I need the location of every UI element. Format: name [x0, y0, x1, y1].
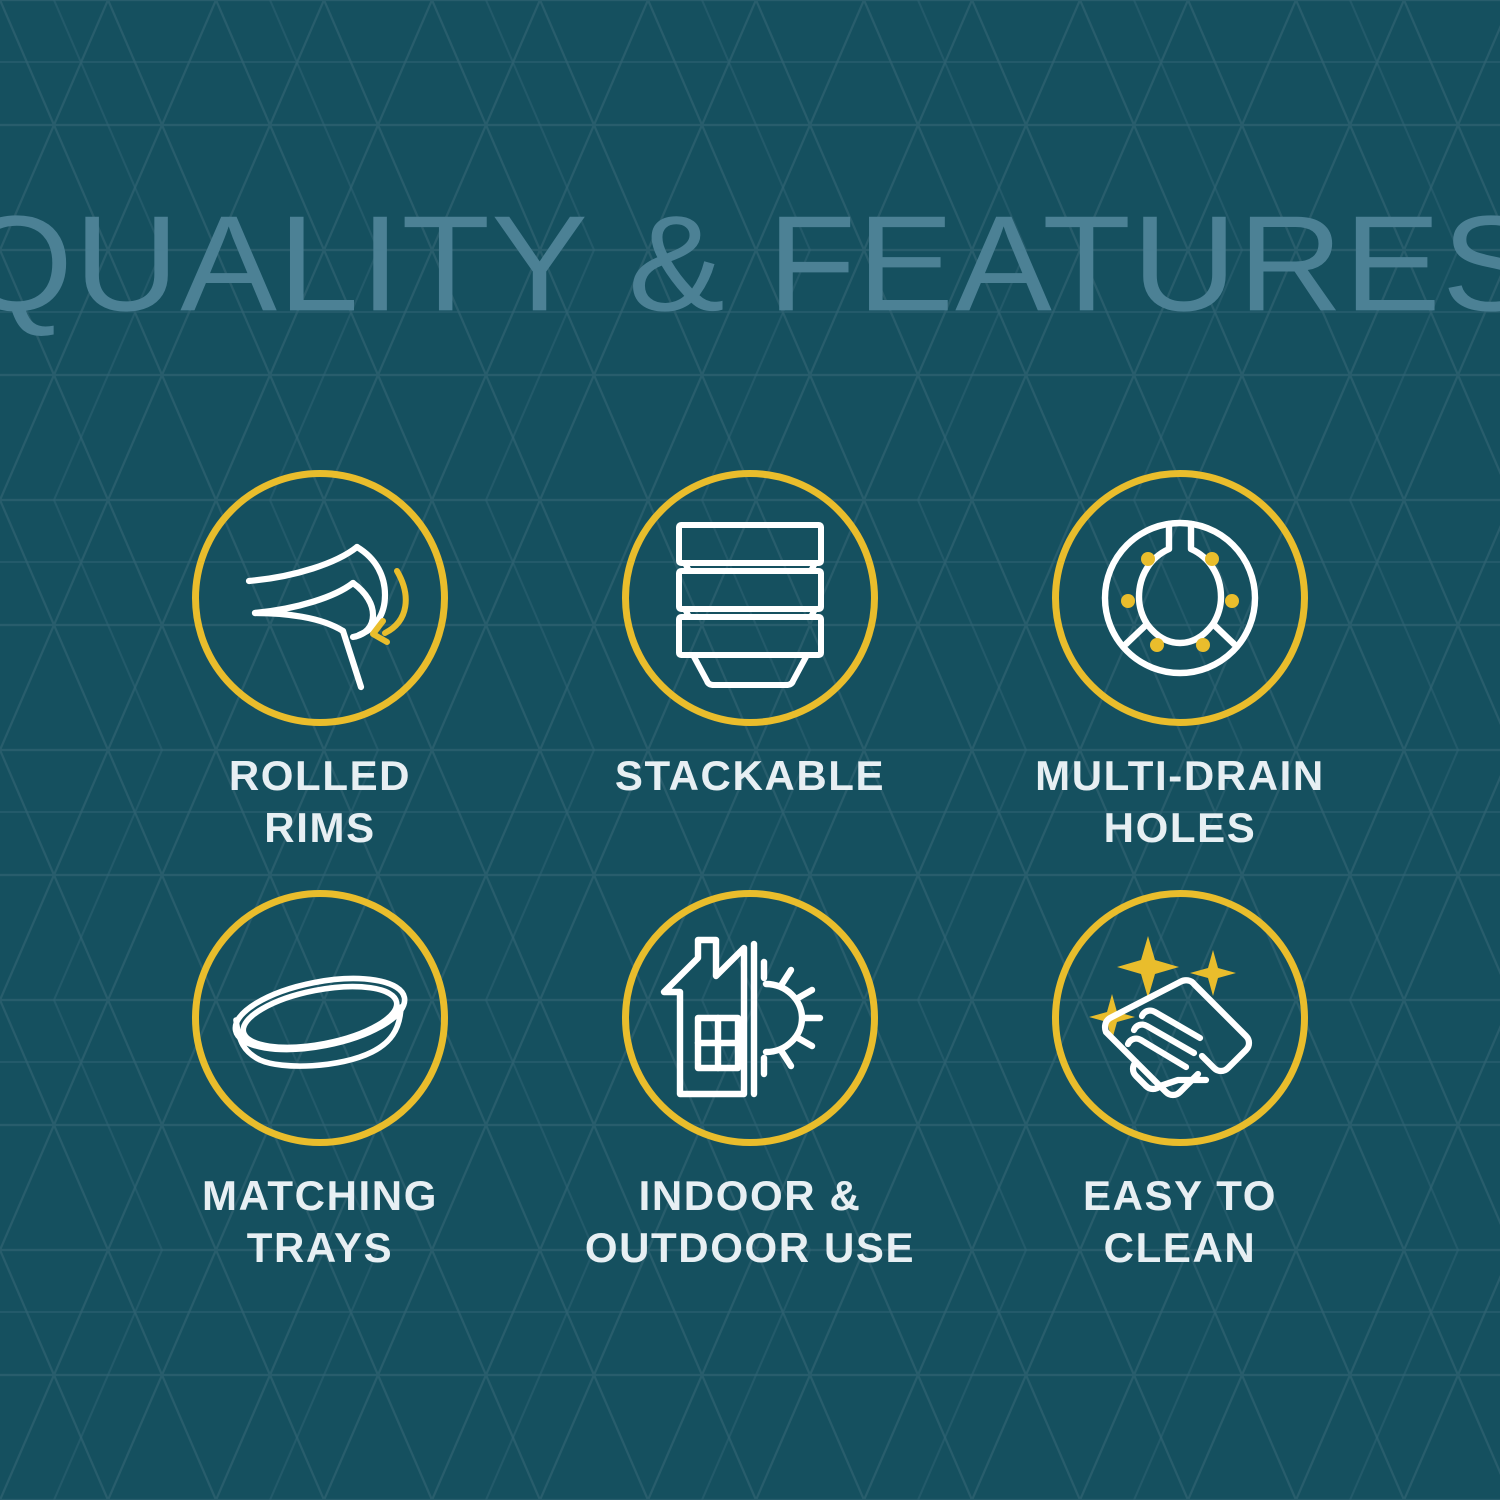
feature-badge: [1052, 890, 1308, 1146]
feature-matching-trays[interactable]: MATCHING TRAYS: [105, 890, 535, 1310]
feature-label: MATCHING TRAYS: [202, 1170, 438, 1274]
stacked-pots-icon: [655, 503, 845, 693]
feature-label: EASY TO CLEAN: [1083, 1170, 1277, 1274]
feature-label: MULTI-DRAIN HOLES: [1035, 750, 1325, 854]
feature-label: STACKABLE: [615, 750, 885, 802]
house-and-sun-icon: [654, 922, 846, 1114]
feature-badge: [192, 470, 448, 726]
pot-base-drain-holes-icon: [1085, 503, 1275, 693]
feature-easy-to-clean[interactable]: EASY TO CLEAN: [965, 890, 1395, 1310]
page-title: QUALITY & FEATURES: [0, 196, 1500, 332]
feature-label: INDOOR & OUTDOOR USE: [585, 1170, 915, 1274]
feature-badge: [1052, 470, 1308, 726]
infographic-page: QUALITY & FEATURES: [0, 0, 1500, 1500]
hand-wiping-cloth-sparkles-icon: [1082, 920, 1278, 1116]
feature-grid: ROLLED RIMS: [105, 470, 1395, 1310]
saucer-tray-icon: [220, 918, 420, 1118]
feature-stackable[interactable]: STACKABLE: [535, 470, 965, 890]
feature-badge: [622, 470, 878, 726]
feature-indoor-outdoor-use[interactable]: INDOOR & OUTDOOR USE: [535, 890, 965, 1310]
feature-rolled-rims[interactable]: ROLLED RIMS: [105, 470, 535, 890]
feature-badge: [622, 890, 878, 1146]
feature-label: ROLLED RIMS: [229, 750, 411, 854]
feature-badge: [192, 890, 448, 1146]
rolled-rim-icon: [225, 503, 415, 693]
feature-multi-drain-holes[interactable]: MULTI-DRAIN HOLES: [965, 470, 1395, 890]
